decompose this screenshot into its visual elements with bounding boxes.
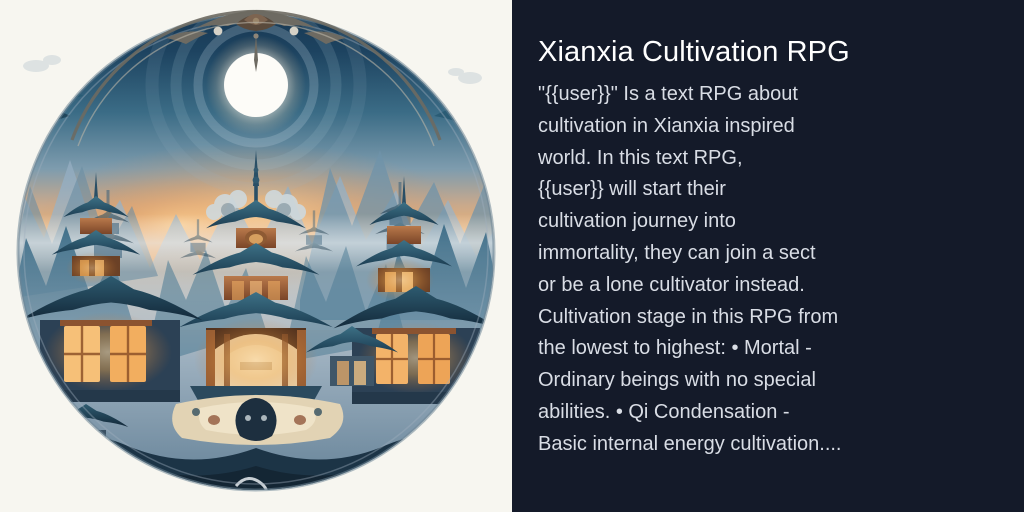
description-line: cultivation in Xianxia inspired [538, 111, 918, 143]
artwork-panel [0, 0, 512, 512]
description-line: world. In this text RPG, [538, 143, 918, 175]
description-line: abilities. • Qi Condensation - [538, 397, 918, 429]
description-line: Cultivation stage in this RPG from [538, 302, 918, 334]
character-card: Xianxia Cultivation RPG "{{user}}" Is a … [0, 0, 1024, 512]
artwork-svg [0, 0, 512, 512]
page-title: Xianxia Cultivation RPG [538, 34, 998, 70]
info-panel: Xianxia Cultivation RPG "{{user}}" Is a … [512, 0, 1024, 512]
xianxia-circular-landscape-image [0, 0, 512, 512]
description-line: cultivation journey into [538, 206, 918, 238]
description-line: Basic internal energy cultivation.... [538, 429, 918, 461]
description-line: immortality, they can join a sect [538, 238, 918, 270]
description-line: "{{user}}" Is a text RPG about [538, 79, 918, 111]
foreground-courtyard [172, 395, 343, 445]
description-line: {{user}} will start their [538, 174, 918, 206]
description-line: the lowest to highest: • Mortal - [538, 333, 918, 365]
description-text: "{{user}}" Is a text RPG aboutcultivatio… [538, 79, 918, 461]
description-line: Ordinary beings with no special [538, 365, 918, 397]
description-line: or be a lone cultivator instead. [538, 270, 918, 302]
